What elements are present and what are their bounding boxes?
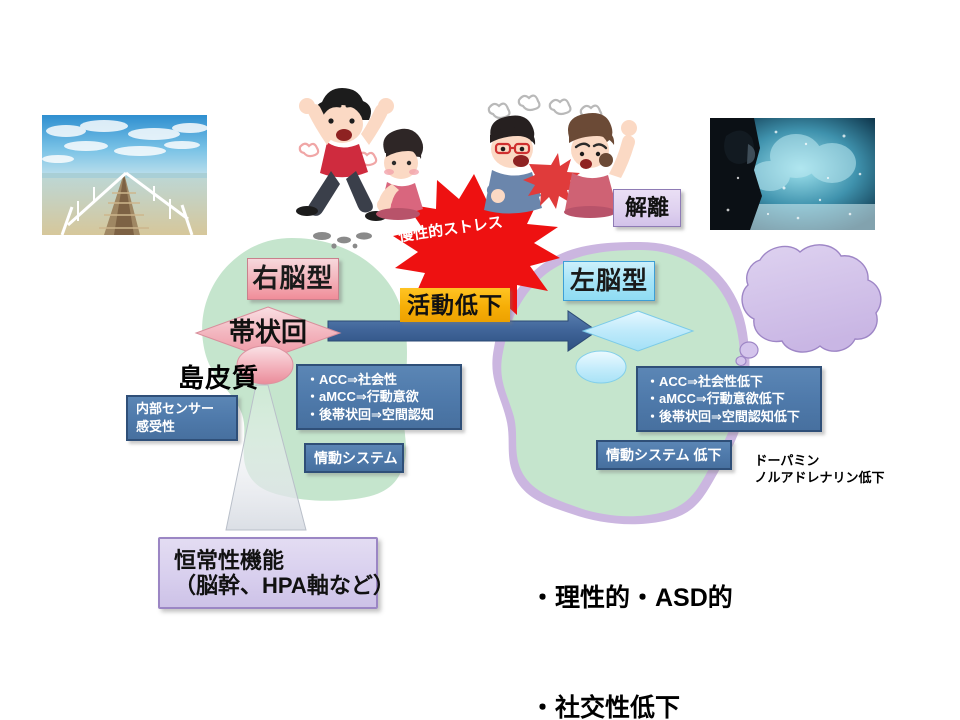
insula-ellipse-right bbox=[576, 351, 626, 383]
right-brain-function-box: ・ACC⇒社会性低下 ・aMCC⇒行動意欲低下 ・後帯状回⇒空間認知低下 bbox=[636, 366, 822, 432]
left-function-line-3: ・後帯状回⇒空間認知 bbox=[306, 406, 434, 424]
cingulate-label: 帯状回 bbox=[196, 312, 340, 354]
homeostasis-box: 恒常性機能 （脳幹、HPA軸など） bbox=[158, 537, 378, 609]
neurotransmitter-line-1: ドーパミン bbox=[754, 453, 819, 468]
homeostasis-line-2: （脳幹、HPA軸など） bbox=[174, 573, 395, 598]
blizzard-person-photo bbox=[710, 118, 875, 230]
left-function-line-2: ・aMCC⇒行動意欲 bbox=[306, 388, 419, 406]
left-brain-function-box: ・ACC⇒社会性 ・aMCC⇒行動意欲 ・後帯状回⇒空間認知 bbox=[296, 364, 462, 430]
insula-label: 島皮質 bbox=[178, 358, 259, 395]
diagram-vector-layer bbox=[0, 0, 960, 720]
neurotransmitter-label: ドーパミン ノルアドレナリン低下 bbox=[740, 434, 884, 504]
symptom-item-1: ・理性的・ASD的 bbox=[530, 580, 733, 617]
pier-boardwalk-photo bbox=[42, 115, 207, 235]
left-emotion-system-box: 情動システム bbox=[304, 443, 404, 473]
activity-decline-label: 活動低下 bbox=[400, 288, 510, 322]
neurotransmitter-line-2: ノルアドレナリン低下 bbox=[754, 470, 884, 485]
right-brain-type-box: 右脳型 bbox=[247, 258, 339, 300]
symptom-list: ・理性的・ASD的 ・社交性低下 ・行動意欲低下 ・ふわふわ感 ・情動低下 ・自… bbox=[530, 506, 733, 720]
right-function-line-2: ・aMCC⇒行動意欲低下 bbox=[646, 390, 785, 408]
internal-sensor-box: 内部センサー 感受性 bbox=[126, 395, 238, 441]
right-function-line-3: ・後帯状回⇒空間認知低下 bbox=[646, 408, 800, 426]
right-emotion-system-box: 情動システム 低下 bbox=[596, 440, 732, 470]
symptom-item-2: ・社交性低下 bbox=[530, 690, 733, 720]
internal-sensor-line-2: 感受性 bbox=[136, 418, 175, 436]
dissociation-box: 解離 bbox=[613, 189, 681, 227]
internal-sensor-line-1: 内部センサー bbox=[136, 400, 214, 418]
homeostasis-line-1: 恒常性機能 bbox=[174, 548, 284, 573]
slide-canvas: 慢性的ストレス 右脳型 左脳型 解離 活動低下 島皮質 帯状回 内部センサー 感… bbox=[0, 0, 960, 720]
right-function-line-1: ・ACC⇒社会性低下 bbox=[646, 373, 763, 391]
thought-cloud bbox=[736, 245, 881, 366]
left-brain-type-box: 左脳型 bbox=[563, 261, 655, 301]
left-function-line-1: ・ACC⇒社会性 bbox=[306, 371, 397, 389]
